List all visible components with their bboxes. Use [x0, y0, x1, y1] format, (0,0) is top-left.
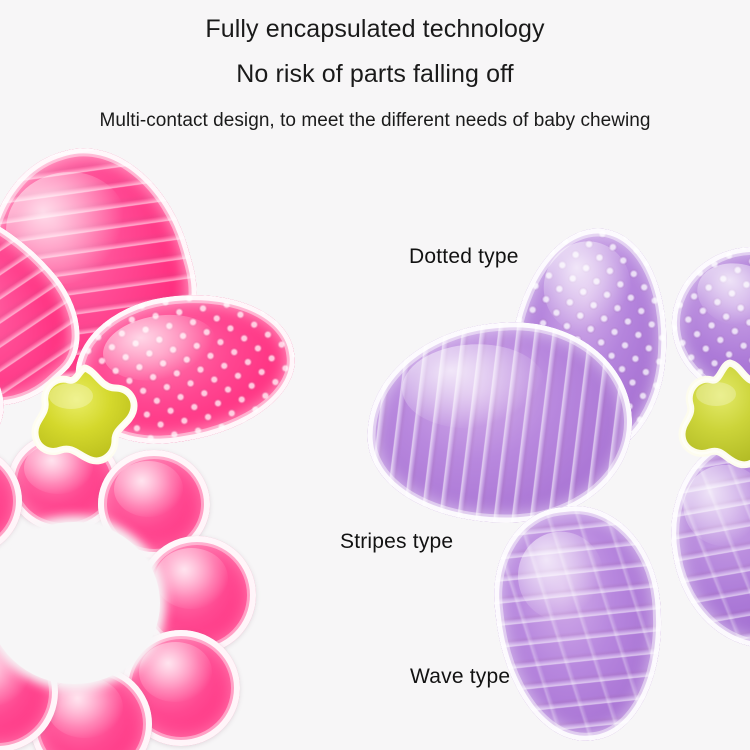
pink-teether-product	[0, 140, 300, 750]
headings-block: Fully encapsulated technology No risk of…	[0, 0, 750, 130]
purple-wave-petal	[485, 498, 674, 749]
heading-line-2: No risk of parts falling off	[0, 42, 750, 87]
pink-teether-star-center	[25, 362, 145, 472]
product-image-canvas: Fully encapsulated technology No risk of…	[0, 0, 750, 750]
heading-line-3: Multi-contact design, to meet the differ…	[0, 87, 750, 130]
callout-label-dotted-type: Dotted type	[409, 245, 519, 269]
purple-teether-star-center	[672, 358, 750, 478]
callout-label-stripes-type: Stripes type	[340, 530, 453, 554]
callout-label-wave-type: Wave type	[410, 665, 510, 689]
heading-line-1: Fully encapsulated technology	[0, 0, 750, 42]
wave-texture	[485, 498, 674, 749]
